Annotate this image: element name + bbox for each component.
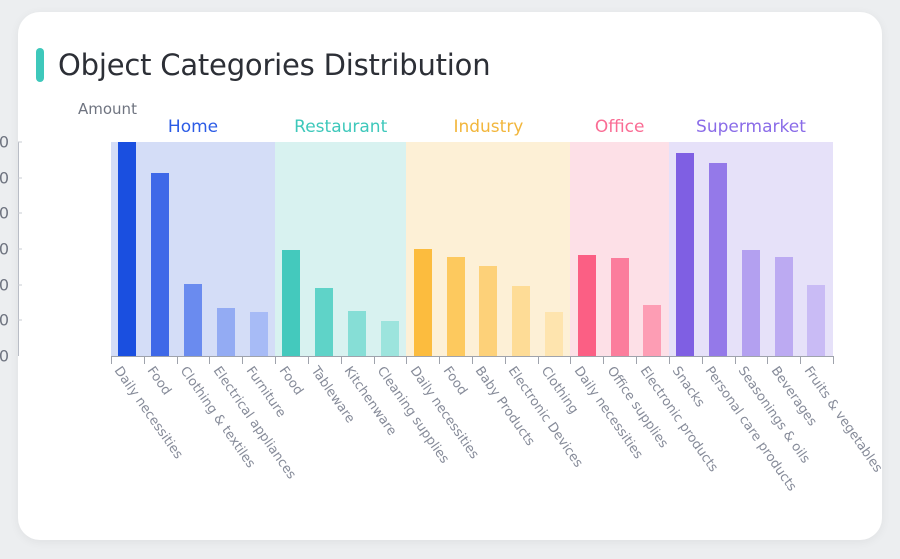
bar[interactable] <box>282 250 300 356</box>
x-axis-tick-mark <box>439 356 440 364</box>
bar[interactable] <box>578 255 596 356</box>
y-axis-tick-label: 50 <box>0 311 18 330</box>
bar-slot <box>242 142 275 356</box>
x-axis-tick-mark <box>341 356 342 364</box>
bar-slot <box>603 142 636 356</box>
x-axis-tick-mark <box>275 356 276 364</box>
bar[interactable] <box>676 153 694 356</box>
chart-card: Object Categories Distribution Amount 30… <box>18 12 882 540</box>
y-axis-tick-label: 100 <box>0 275 18 294</box>
group-label-office: Office <box>595 117 645 137</box>
bar-slot <box>734 142 767 356</box>
bar[interactable] <box>479 266 497 356</box>
x-axis-tick-mark <box>505 356 506 364</box>
bar[interactable] <box>545 312 563 356</box>
bar-slot <box>439 142 472 356</box>
bar-slot <box>275 142 308 356</box>
bar[interactable] <box>742 250 760 356</box>
x-axis-tick-mark <box>669 356 670 364</box>
bar-slot <box>538 142 571 356</box>
bar[interactable] <box>611 258 629 356</box>
y-axis-tick-label: 200 <box>0 204 18 223</box>
group-label-restaurant: Restaurant <box>294 117 387 137</box>
x-axis-tick-mark <box>735 356 736 364</box>
group-label-home: Home <box>168 117 218 137</box>
bar-slot <box>209 142 242 356</box>
x-axis-tick-mark <box>406 356 407 364</box>
title-accent-bar <box>36 48 44 82</box>
bar[interactable] <box>447 257 465 356</box>
bar-slot <box>767 142 800 356</box>
x-axis-tick-mark <box>472 356 473 364</box>
bar[interactable] <box>643 305 661 356</box>
x-axis-tick-mark <box>111 356 112 364</box>
bar-slot <box>374 142 407 356</box>
bar-slot <box>669 142 702 356</box>
y-axis-tick-mark <box>18 249 22 250</box>
bar[interactable] <box>151 173 169 356</box>
y-axis-tick-mark <box>18 284 22 285</box>
y-axis-tick-label: 150 <box>0 240 18 259</box>
x-axis-tick-mark <box>833 356 834 364</box>
x-axis-tick-mark <box>242 356 243 364</box>
x-axis-tick-mark <box>800 356 801 364</box>
x-axis-tick-label: Food <box>275 364 305 398</box>
y-axis-tick-mark <box>18 177 22 178</box>
x-axis-tick-mark <box>636 356 637 364</box>
bar[interactable] <box>118 142 136 356</box>
y-axis-tick-label: 0 <box>0 347 18 366</box>
bar-slot <box>341 142 374 356</box>
bar[interactable] <box>512 286 530 356</box>
group-label-supermarket: Supermarket <box>696 117 806 137</box>
x-axis-tick-mark <box>209 356 210 364</box>
x-axis-tick-mark <box>702 356 703 364</box>
y-axis-title: Amount <box>78 100 137 118</box>
x-axis-tick-mark <box>144 356 145 364</box>
y-axis-tick-label: 300 <box>0 133 18 152</box>
y-axis: 300250200150100500 <box>18 142 19 356</box>
bar[interactable] <box>381 321 399 356</box>
bar[interactable] <box>315 288 333 356</box>
x-axis-tick-mark <box>767 356 768 364</box>
bar[interactable] <box>414 249 432 356</box>
bar[interactable] <box>184 284 202 356</box>
bar-slot <box>472 142 505 356</box>
page-title: Object Categories Distribution <box>58 48 490 82</box>
plot-area <box>111 142 833 356</box>
bar[interactable] <box>348 311 366 356</box>
group-label-industry: Industry <box>453 117 523 137</box>
bar-slot <box>702 142 735 356</box>
bar-slot <box>177 142 210 356</box>
x-axis-tick-mark <box>374 356 375 364</box>
bar[interactable] <box>807 285 825 356</box>
bar-slot <box>636 142 669 356</box>
bar[interactable] <box>217 308 235 356</box>
bar-slot <box>111 142 144 356</box>
bar-slot <box>308 142 341 356</box>
y-axis-tick-mark <box>18 213 22 214</box>
bar-slot <box>144 142 177 356</box>
y-axis-tick-mark <box>18 320 22 321</box>
x-axis-tick-mark <box>603 356 604 364</box>
bar-slot <box>505 142 538 356</box>
bars-layer <box>111 142 833 356</box>
y-axis-tick-mark <box>18 142 22 143</box>
bar-slot <box>570 142 603 356</box>
x-axis-tick-label: Food <box>144 364 174 398</box>
x-axis-tick-mark <box>177 356 178 364</box>
x-axis-tick-mark <box>570 356 571 364</box>
x-axis-tick-label: Food <box>439 364 469 398</box>
bar[interactable] <box>775 257 793 356</box>
x-axis-tick-mark <box>538 356 539 364</box>
x-axis-tick-mark <box>308 356 309 364</box>
bar[interactable] <box>250 312 268 356</box>
y-axis-tick-label: 250 <box>0 168 18 187</box>
chart-header: Object Categories Distribution <box>36 48 490 82</box>
bar-slot <box>800 142 833 356</box>
bar[interactable] <box>709 163 727 356</box>
bar-slot <box>406 142 439 356</box>
